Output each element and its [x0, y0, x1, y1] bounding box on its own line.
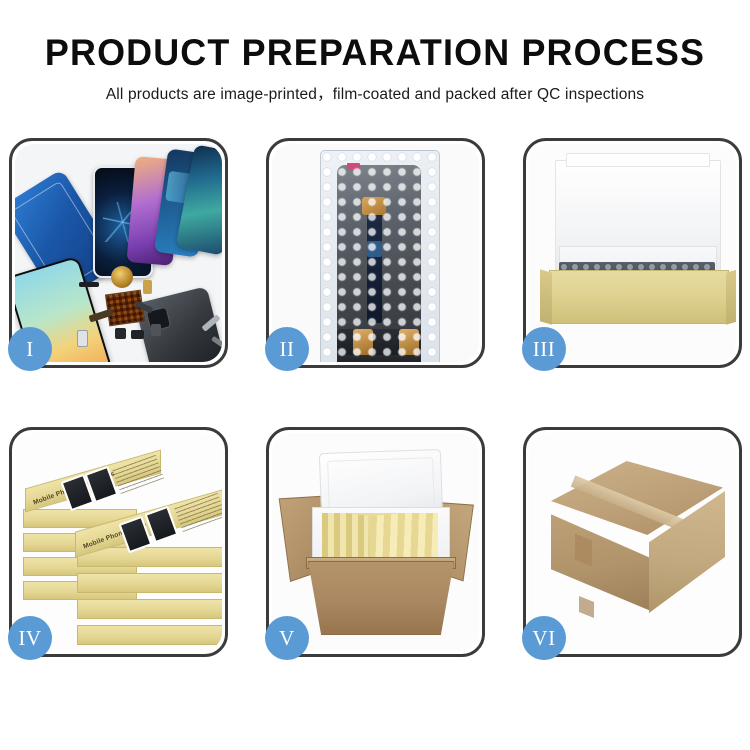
- box-stack: Mobile Phone Spare Parts Mobile Phone Sp…: [19, 451, 222, 651]
- small-component: [131, 330, 144, 339]
- step-badge-2: II: [265, 327, 309, 371]
- small-component: [115, 328, 126, 339]
- yellow-box-tray: [549, 270, 729, 324]
- coil-component: [111, 266, 133, 288]
- bubble-wrapped-screen-photo: [272, 144, 479, 362]
- sealed-shipping-carton-photo: [529, 433, 736, 651]
- stacked-box: [77, 625, 222, 645]
- step-badge-3: III: [522, 327, 566, 371]
- process-step-5[interactable]: V: [266, 427, 485, 657]
- open-inner-box-photo: [529, 144, 736, 362]
- pink-label-tab: [347, 163, 360, 170]
- phone-parts-assortment-photo: [15, 144, 222, 362]
- step-badge-1: I: [8, 327, 52, 371]
- process-step-2[interactable]: II: [266, 138, 485, 368]
- process-step-1[interactable]: I: [9, 138, 228, 368]
- small-component: [79, 282, 99, 287]
- small-component: [151, 324, 161, 336]
- page-subtitle: All products are image-printed，film-coat…: [0, 82, 750, 104]
- process-step-grid: I II III: [9, 138, 741, 657]
- process-step-6[interactable]: VI: [523, 427, 742, 657]
- carton-with-foam-liner-photo: [272, 433, 479, 651]
- carton-body: [308, 561, 454, 635]
- process-step-3[interactable]: III: [523, 138, 742, 368]
- bubble-wrap-bag: [320, 150, 440, 362]
- small-component: [77, 330, 88, 347]
- stacked-box: [77, 573, 222, 593]
- small-component: [143, 280, 152, 294]
- page-title: PRODUCT PREPARATION PROCESS: [11, 34, 739, 73]
- carton-seam-tab: [579, 596, 594, 618]
- step-badge-4: IV: [8, 616, 52, 660]
- step-badge-6: VI: [522, 616, 566, 660]
- stacked-retail-boxes-photo: Mobile Phone Spare Parts Mobile Phone Sp…: [15, 433, 222, 651]
- flex-cable: [367, 213, 382, 323]
- box-spec-lines: [112, 454, 164, 494]
- process-step-4[interactable]: Mobile Phone Spare Parts Mobile Phone Sp…: [9, 427, 228, 657]
- connector-right: [399, 329, 419, 355]
- stacked-box: [77, 599, 222, 619]
- page-header: PRODUCT PREPARATION PROCESS All products…: [0, 0, 750, 104]
- box-spec-lines: [174, 492, 222, 532]
- step-badge-5: V: [265, 616, 309, 660]
- connector-left: [353, 329, 373, 355]
